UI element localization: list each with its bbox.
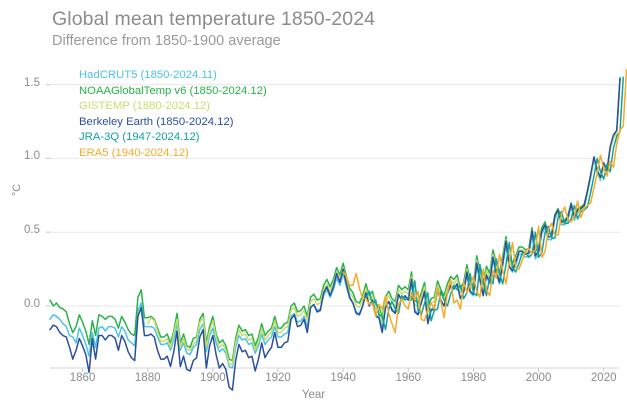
legend-item-gistemp[interactable]: GISTEMP (1880-2024.12)	[79, 99, 267, 115]
x-tick-label: 1880	[125, 372, 171, 384]
legend-item-noaaglobaltemp-v6[interactable]: NOAAGlobalTemp v6 (1850-2024.12)	[79, 84, 267, 100]
x-tick-label: 1860	[60, 372, 106, 384]
plot-svg	[0, 0, 627, 412]
y-axis-label: °C	[11, 175, 23, 205]
y-tick-label: 1.5	[10, 77, 40, 89]
x-tick-label: 1960	[385, 372, 431, 384]
x-axis-label: Year	[0, 389, 627, 401]
x-tick-label: 1900	[190, 372, 236, 384]
x-tick-label: 1980	[450, 372, 496, 384]
y-tick-label: 0.5	[10, 224, 40, 236]
chart-container: Global mean temperature 1850-2024 Differ…	[0, 0, 627, 412]
y-tick-label: 1.0	[10, 150, 40, 162]
x-tick-label: 2020	[581, 372, 627, 384]
y-tick-label: 0.0	[10, 298, 40, 310]
legend-item-hadcrut5[interactable]: HadCRUT5 (1850-2024.11)	[79, 68, 267, 84]
legend: HadCRUT5 (1850-2024.11)NOAAGlobalTemp v6…	[79, 68, 267, 162]
legend-item-era5[interactable]: ERA5 (1940-2024.12)	[79, 146, 267, 162]
x-tick-label: 2000	[516, 372, 562, 384]
x-tick-label: 1920	[255, 372, 301, 384]
legend-item-berkeley-earth[interactable]: Berkeley Earth (1850-2024.12)	[79, 115, 267, 131]
legend-item-jra-3q[interactable]: JRA-3Q (1947-2024.12)	[79, 130, 267, 146]
series-line	[343, 70, 626, 333]
x-tick-label: 1940	[320, 372, 366, 384]
